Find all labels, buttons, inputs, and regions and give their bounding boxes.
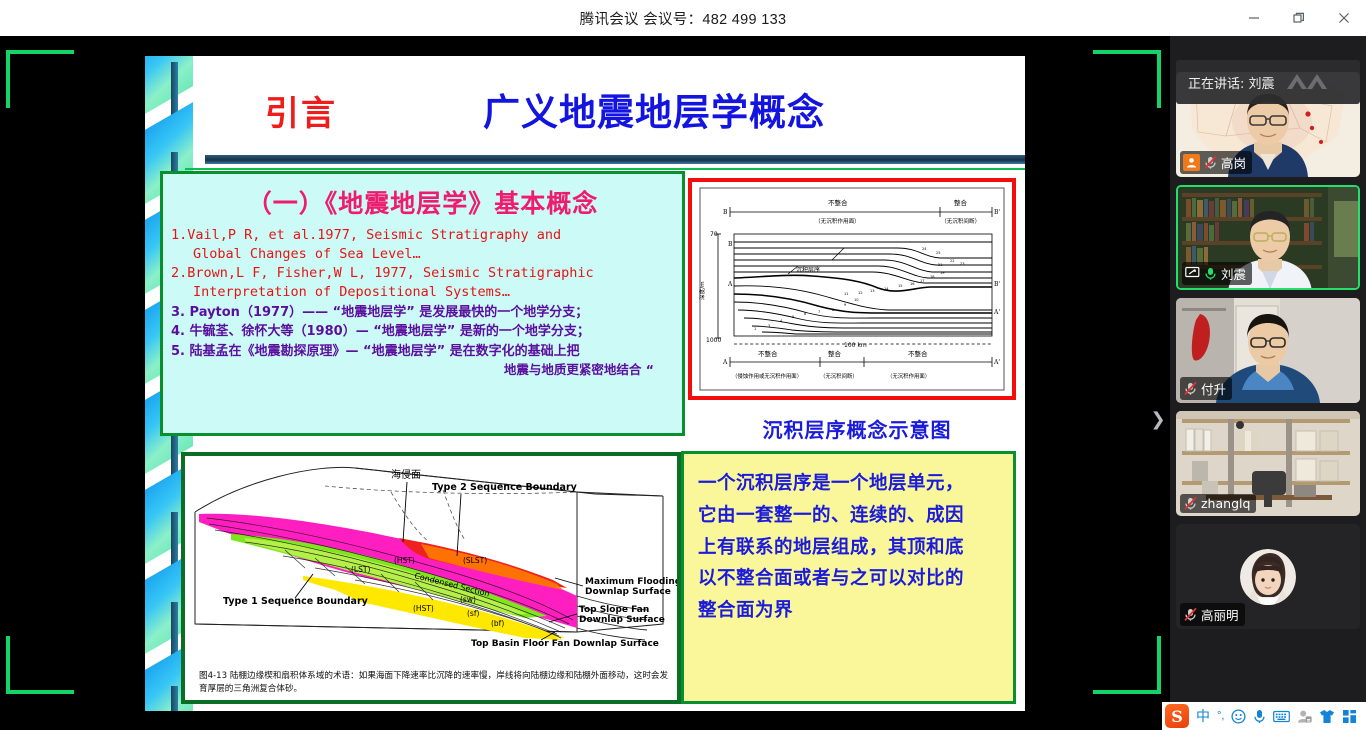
svg-text:整合: 整合 xyxy=(954,198,968,207)
svg-text:B': B' xyxy=(994,209,1000,216)
participant-rail: 正在讲话: 刘震 xyxy=(1170,36,1366,730)
svg-text:Top Slope Fan: Top Slope Fan xyxy=(579,605,649,615)
share-border-corner-tl xyxy=(6,50,74,108)
definition-line: 整合面为界 xyxy=(698,595,1001,627)
svg-text:12: 12 xyxy=(858,291,863,295)
svg-text:14: 14 xyxy=(884,287,889,291)
host-avatar-icon xyxy=(1183,154,1200,171)
seismic-section-svg: 不整合 （无沉积作用面） 整合 （无沉积间断） B B' 70 1000 深度/… xyxy=(692,182,1012,396)
ime-voice-input-icon[interactable] xyxy=(1253,709,1266,724)
ime-mode-chinese[interactable]: 中 xyxy=(1196,706,1210,726)
svg-text:不整合: 不整合 xyxy=(758,349,778,358)
participant-name: 高丽明 xyxy=(1201,605,1239,624)
svg-text:A': A' xyxy=(993,309,1000,316)
svg-text:10: 10 xyxy=(854,298,859,302)
concept-list: 1.Vail,P R, et al.1977, Seismic Stratigr… xyxy=(171,226,682,379)
svg-text:(HST): (HST) xyxy=(413,604,434,613)
svg-text:1000: 1000 xyxy=(706,337,721,344)
microphone-muted-icon xyxy=(1183,607,1198,622)
header-rule xyxy=(205,155,1025,164)
concept-box: （一）《地震地层学》基本概念 1.Vail,P R, et al.1977, S… xyxy=(160,171,685,436)
speaking-label: 正在讲话: 刘震 xyxy=(1188,73,1275,92)
close-button[interactable] xyxy=(1321,0,1366,36)
participant-badge: zhanglq xyxy=(1180,494,1256,513)
svg-text:（无沉积作用面）: （无沉积作用面） xyxy=(815,217,860,225)
ime-punctuation-icon[interactable]: °, xyxy=(1217,710,1224,722)
definition-line: 它由一套整一的、连续的、成因 xyxy=(698,500,1001,532)
concept-box-heading: （一）《地震地层学》基本概念 xyxy=(163,184,682,220)
svg-text:17: 17 xyxy=(920,279,925,283)
participant-badge: 刘震 xyxy=(1182,262,1252,285)
list-item: 4. 牛毓荃、徐怀大等（1980）— “地震地层学” 是新的一个地学分支； xyxy=(171,322,682,341)
participant-tile[interactable]: 付升 xyxy=(1176,298,1360,403)
list-item: 2.Brown,L F, Fisher,W L, 1977, Seismic S… xyxy=(171,264,682,302)
participant-tile[interactable]: 高丽明 xyxy=(1176,524,1360,629)
svg-text:23: 23 xyxy=(960,262,965,266)
powerpoint-slide: 引言 广义地震地层学概念 （一）《地震地层学》基本概念 1.Vail,P R, … xyxy=(145,56,1025,711)
svg-text:不整合: 不整合 xyxy=(908,349,928,358)
ime-soft-keyboard-icon[interactable] xyxy=(1273,710,1290,723)
svg-text:(sw): (sw) xyxy=(460,595,476,604)
svg-text:Downlap Surface: Downlap Surface xyxy=(585,587,671,597)
ime-user-account-icon[interactable] xyxy=(1297,709,1312,724)
svg-text:1: 1 xyxy=(754,327,756,331)
ime-emoji-icon[interactable] xyxy=(1231,709,1246,724)
svg-text:15: 15 xyxy=(898,284,903,288)
svg-text:22: 22 xyxy=(950,259,955,263)
minimize-button[interactable] xyxy=(1231,0,1276,36)
sogou-logo-icon[interactable]: S xyxy=(1165,704,1189,728)
svg-text:(LST): (LST) xyxy=(351,565,370,574)
share-border-corner-bl xyxy=(6,636,74,694)
restore-button[interactable] xyxy=(1276,0,1321,36)
seismic-section-figure: 不整合 （无沉积作用面） 整合 （无沉积间断） B B' 70 1000 深度/… xyxy=(688,178,1016,400)
definition-line: 一个沉积层序是一个地层单元， xyxy=(698,468,1001,500)
svg-text:（侵蚀作用或无沉积作用面）: （侵蚀作用或无沉积作用面） xyxy=(732,372,802,380)
svg-text:A: A xyxy=(722,359,728,366)
speaking-indicator: 正在讲话: 刘震 xyxy=(1176,60,1360,104)
list-item: 5. 陆基孟在《地震勘探原理》— “地震地层学” 是在数字化的基础上把 地震与地… xyxy=(171,342,682,379)
participant-badge: 付升 xyxy=(1180,377,1232,400)
participant-name: 刘震 xyxy=(1221,264,1246,283)
seismic-figure-caption: 沉积层序概念示意图 xyxy=(697,414,1017,443)
sogou-ime-toolbar: S 中 °, xyxy=(1162,702,1366,730)
svg-text:（无沉积间断）: （无沉积间断） xyxy=(820,372,858,380)
svg-text:19: 19 xyxy=(940,271,945,275)
svg-text:A': A' xyxy=(993,359,1000,366)
wedge-figure-box: 海侵面 Type 2 Sequence Boundary Type 1 Sequ… xyxy=(181,452,681,704)
microphone-muted-icon xyxy=(1183,381,1198,396)
participant-tile[interactable]: zhanglq xyxy=(1176,411,1360,516)
svg-text:11: 11 xyxy=(844,292,849,296)
svg-text:（无沉积作用面）: （无沉积作用面） xyxy=(887,372,930,380)
svg-text:(SLST): (SLST) xyxy=(463,556,487,565)
svg-text:B: B xyxy=(728,241,733,248)
definition-line: 以不整合面或者与之可以对比的 xyxy=(698,563,1001,595)
slide-section-tag: 引言 xyxy=(265,86,337,135)
svg-text:7: 7 xyxy=(818,310,820,314)
list-item: 3. Payton（1977）—— “地震地层学” 是发展最快的一个地学分支； xyxy=(171,303,682,322)
participant-tile[interactable]: 刘震 xyxy=(1176,185,1360,290)
microphone-icon xyxy=(1203,266,1218,281)
title-bar: 腾讯会议 会议号：482 499 133 xyxy=(0,0,1366,36)
svg-text:Top Basin Floor Fan Downlap Su: Top Basin Floor Fan Downlap Surface xyxy=(471,639,659,649)
ime-skin-shirt-icon[interactable] xyxy=(1319,709,1335,724)
svg-text:Type 2 Sequence Boundary: Type 2 Sequence Boundary xyxy=(432,482,578,493)
collapse-panel-chevron-icon[interactable]: ❯ xyxy=(1150,408,1166,430)
svg-text:不整合: 不整合 xyxy=(828,198,848,207)
slide-header: 引言 广义地震地层学概念 xyxy=(193,56,1025,156)
svg-text:3: 3 xyxy=(768,324,770,328)
list-item: 1.Vail,P R, et al.1977, Seismic Stratigr… xyxy=(171,226,682,264)
svg-text:5: 5 xyxy=(792,315,794,319)
microphone-muted-icon xyxy=(1183,496,1198,511)
svg-text:(sf): (sf) xyxy=(467,609,479,618)
meeting-title: 腾讯会议 会议号：482 499 133 xyxy=(580,8,787,29)
shared-screen-stage: 引言 广义地震地层学概念 （一）《地震地层学》基本概念 1.Vail,P R, … xyxy=(0,36,1170,730)
svg-text:Maximum Flooding: Maximum Flooding xyxy=(585,577,677,587)
slide-title: 广义地震地层学概念 xyxy=(483,82,825,136)
share-border-corner-tr xyxy=(1093,50,1161,108)
svg-text:(HST): (HST) xyxy=(394,556,415,565)
wedge-figure-svg: 海侵面 Type 2 Sequence Boundary Type 1 Sequ… xyxy=(185,456,677,700)
participant-name: 高岗 xyxy=(1221,153,1246,172)
svg-text:整合: 整合 xyxy=(828,349,842,358)
share-border-corner-br xyxy=(1093,636,1161,694)
wedge-figure-caption: 图4-13 陆棚边缘楔和扇积体系域的术语：如果海面下降速率比沉降的速率慢，岸线将… xyxy=(199,670,669,696)
label-sea: 海侵面 xyxy=(391,468,421,481)
svg-text:B: B xyxy=(723,209,728,216)
microphone-muted-icon xyxy=(1203,155,1218,170)
svg-text:21: 21 xyxy=(938,263,943,267)
svg-text:（无沉积间断）: （无沉积间断） xyxy=(941,217,980,225)
avatar xyxy=(1240,549,1296,605)
participant-badge: 高丽明 xyxy=(1180,603,1245,626)
definition-box: 一个沉积层序是一个地层单元， 它由一套整一的、连续的、成因 上有联系的地层组成，… xyxy=(681,451,1016,704)
ime-apps-grid-icon[interactable] xyxy=(1342,709,1357,724)
svg-text:18: 18 xyxy=(930,275,935,279)
svg-text:Downlap Surface: Downlap Surface xyxy=(579,615,665,625)
svg-text:100 km: 100 km xyxy=(844,342,867,349)
svg-text:沉积层序: 沉积层序 xyxy=(796,266,820,274)
participant-name: zhanglq xyxy=(1201,496,1250,511)
screen-share-active-icon xyxy=(1185,266,1200,281)
participant-badge: 高岗 xyxy=(1180,151,1252,174)
participant-name: 付升 xyxy=(1201,379,1226,398)
svg-text:13: 13 xyxy=(870,289,875,293)
svg-text:16: 16 xyxy=(910,282,915,286)
svg-text:25: 25 xyxy=(936,251,941,255)
svg-text:(bf): (bf) xyxy=(491,619,504,628)
svg-text:B': B' xyxy=(994,281,1000,288)
svg-text:A: A xyxy=(727,281,733,288)
svg-text:70: 70 xyxy=(710,231,718,238)
definition-line: 上有联系的地层组成，其顶和底 xyxy=(698,532,1001,564)
tencent-meeting-logo-icon xyxy=(1283,71,1337,93)
svg-text:24: 24 xyxy=(922,247,927,251)
header-rule-green xyxy=(185,168,1025,170)
window-controls xyxy=(1231,0,1366,36)
svg-text:深度/m: 深度/m xyxy=(698,281,706,300)
